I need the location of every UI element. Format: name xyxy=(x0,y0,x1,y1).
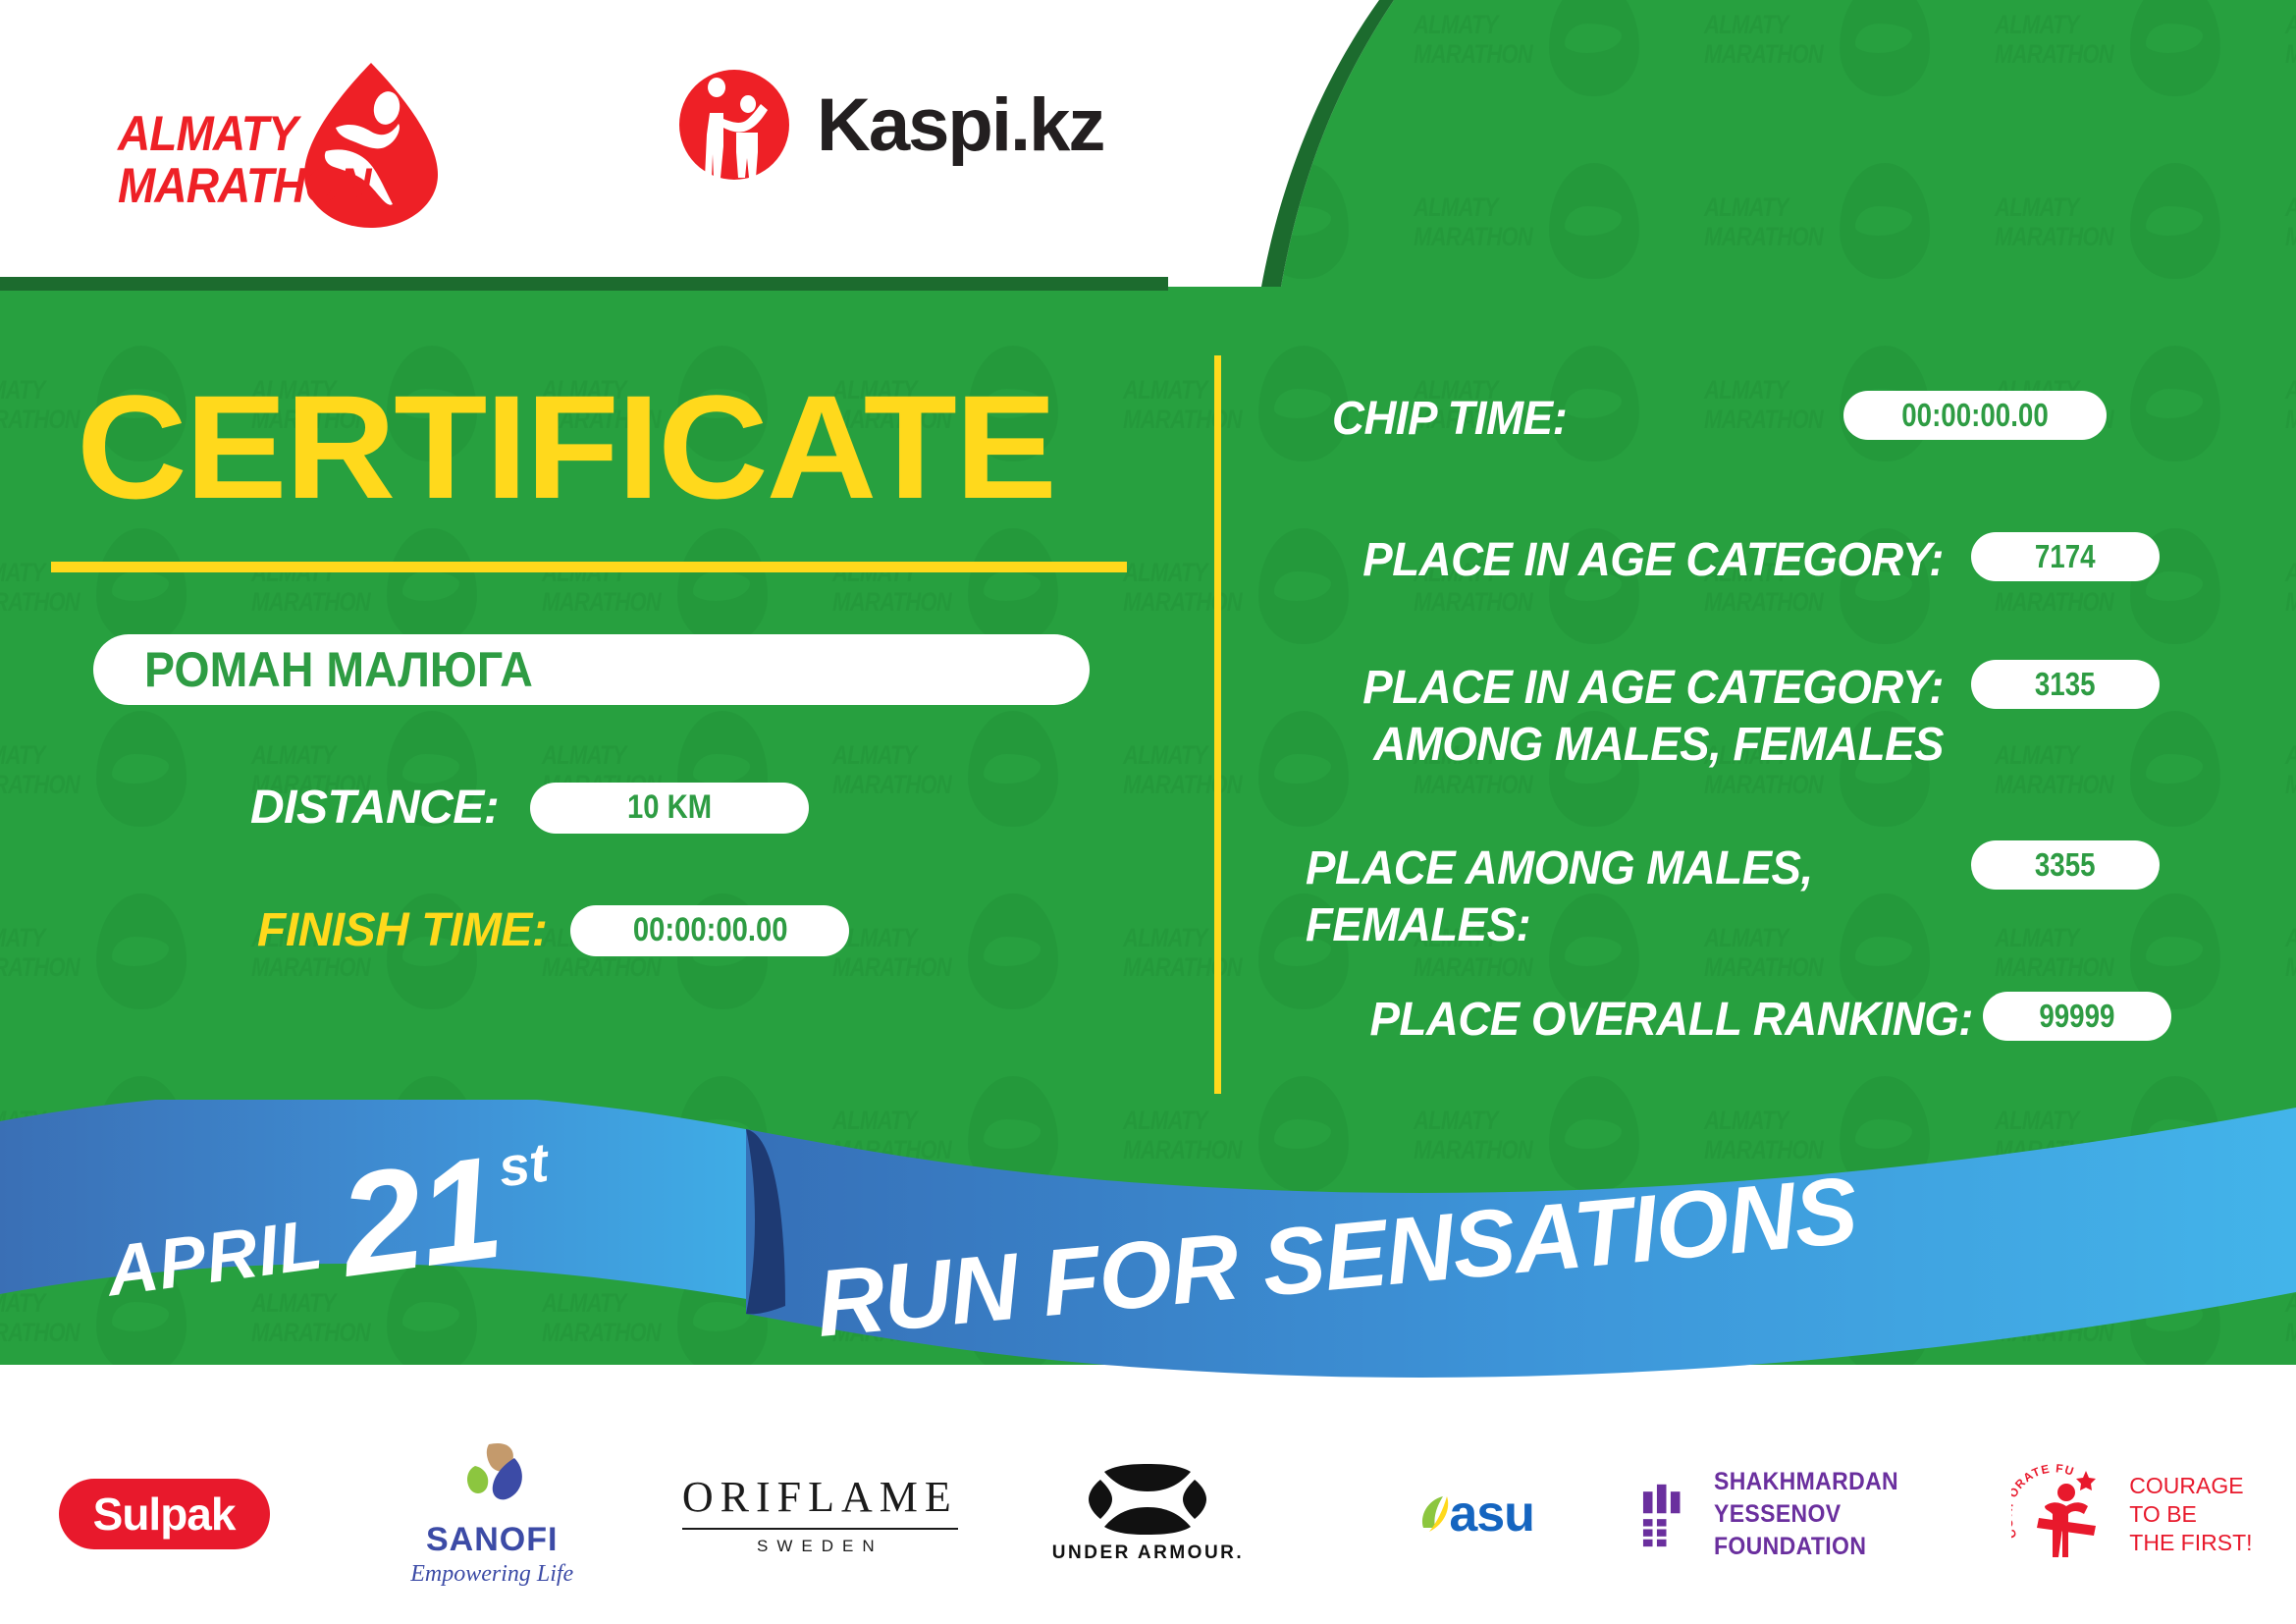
place-age-category-value-field: 7174 xyxy=(1971,532,2160,581)
watermark-text: ALMATYMARATHON xyxy=(1123,740,1244,799)
watermark-tile: ALMATYMARATHON xyxy=(2285,346,2296,493)
watermark-tile: ALMATYMARATHON xyxy=(832,711,1058,858)
place-age-category-gender-label-line2: AMONG MALES, FEMALES xyxy=(1338,717,1945,774)
place-overall-label: PLACE OVERALL RANKING: xyxy=(1339,992,1973,1049)
courage-line-2: TO BE xyxy=(2129,1500,2252,1529)
under-armour-mark-icon xyxy=(1085,1464,1210,1535)
yessenov-bars-icon xyxy=(1640,1470,1692,1558)
watermark-text: ALMATYMARATHON xyxy=(0,923,81,982)
chip-time-label: CHIP TIME: xyxy=(1332,391,1836,448)
oriflame-wordmark: ORIFLAME xyxy=(682,1472,958,1522)
yessenov-line-1: SHAKHMARDAN YESSENOV xyxy=(1714,1466,1948,1531)
watermark-tile: ALMATYMARATHON xyxy=(2285,163,2296,310)
watermark-tile: ALMATYMARATHON xyxy=(832,893,1058,1041)
courage-fund-wordmark: COURAGE TO BE THE FIRST! xyxy=(2129,1472,2252,1557)
sponsor-sanofi: SANOFI Empowering Life xyxy=(328,1440,656,1588)
watermark-tile: ALMATYMARATHON xyxy=(2285,528,2296,676)
watermark-drop-icon xyxy=(96,528,187,644)
watermark-text: ALMATYMARATHON xyxy=(2285,740,2296,799)
watermark-text: ALMATYMARATHON xyxy=(1123,375,1244,434)
place-among-gender-label-line2: FEMALES: xyxy=(1306,897,1912,954)
kaspi-people-circle-icon xyxy=(677,68,791,182)
place-age-category-value: 7174 xyxy=(2035,538,2096,575)
sanofi-logo: SANOFI Empowering Life xyxy=(410,1440,573,1588)
logo-line-2: MARATHON xyxy=(118,160,371,212)
chip-time-value-field: 00:00:00.00 xyxy=(1843,391,2107,440)
sponsor-courage-fund: CORPORATE FUND COURAGE TO BE THE FIRST! xyxy=(1968,1463,2296,1565)
watermark-text: ALMATYMARATHON xyxy=(1414,10,1534,69)
kaspi-logo: Kaspi.kz xyxy=(677,61,1103,189)
sponsor-asu: asu xyxy=(1312,1485,1640,1543)
watermark-drop-icon xyxy=(1549,163,1639,279)
place-age-category-row: PLACE IN AGE CATEGORY: 7174 xyxy=(1306,532,2179,589)
watermark-tile: ALMATYMARATHON xyxy=(1995,0,2220,128)
watermark-tile: ALMATYMARATHON xyxy=(1414,0,1639,128)
place-among-gender-value: 3355 xyxy=(2035,846,2096,884)
watermark-text: ALMATYMARATHON xyxy=(1995,192,2115,251)
yessenov-line-2: FOUNDATION xyxy=(1714,1531,1948,1563)
finish-time-value: 00:00:00.00 xyxy=(632,911,787,949)
finish-time-value-field: 00:00:00.00 xyxy=(570,905,849,956)
place-age-category-gender-label-block: PLACE IN AGE CATEGORY: AMONG MALES, FEMA… xyxy=(1306,660,1944,774)
event-month: APRIL xyxy=(102,1204,328,1312)
watermark-text: ALMATYMARATHON xyxy=(2285,192,2296,251)
sponsor-sulpak: Sulpak xyxy=(0,1479,328,1549)
watermark-tile: ALMATYMARATHON xyxy=(0,893,187,1041)
watermark-tile: ALMATYMARATHON xyxy=(1704,0,1930,128)
event-day: 21 xyxy=(334,1144,507,1291)
watermark-text: ALMATYMARATHON xyxy=(1704,192,1825,251)
courage-fund-logo: CORPORATE FUND COURAGE TO BE THE FIRST! xyxy=(2011,1463,2252,1565)
column-divider xyxy=(1214,355,1221,1094)
watermark-tile: ALMATYMARATHON xyxy=(2285,893,2296,1041)
courage-line-1: COURAGE xyxy=(2129,1472,2252,1500)
watermark-drop-icon xyxy=(96,893,187,1009)
watermark-drop-icon xyxy=(1840,163,1930,279)
chip-time-value: 00:00:00.00 xyxy=(1901,397,2049,434)
yessenov-foundation-logo: SHAKHMARDAN YESSENOV FOUNDATION xyxy=(1640,1466,1968,1563)
distance-label: DISTANCE: xyxy=(250,781,499,835)
kaspi-wordmark: Kaspi.kz xyxy=(817,82,1103,168)
place-overall-row: PLACE OVERALL RANKING: 99999 xyxy=(1306,992,2179,1049)
watermark-drop-icon xyxy=(968,711,1058,827)
watermark-text: ALMATYMARATHON xyxy=(0,375,81,434)
watermark-text: ALMATYMARATHON xyxy=(2285,10,2296,69)
page-title: CERTIFICATE xyxy=(77,373,1055,520)
place-age-category-gender-value: 3135 xyxy=(2035,666,2096,703)
header-divider xyxy=(0,277,1168,291)
watermark-drop-icon xyxy=(968,528,1058,644)
sanofi-mark-icon xyxy=(450,1440,534,1517)
place-age-category-gender-label-line1: PLACE IN AGE CATEGORY: xyxy=(1338,660,1945,717)
watermark-text: ALMATYMARATHON xyxy=(1704,10,1825,69)
athlete-name-value: РОМАН МАЛЮГА xyxy=(144,641,533,698)
watermark-tile: ALMATYMARATHON xyxy=(0,711,187,858)
asu-swoosh-icon xyxy=(1417,1492,1453,1536)
watermark-drop-icon xyxy=(387,528,477,644)
event-day-suffix: st xyxy=(495,1130,552,1200)
sponsor-bar: Sulpak SANOFI Empowering Life ORIFLAME S… xyxy=(0,1404,2296,1624)
place-among-gender-row: PLACE AMONG MALES, FEMALES: 3355 xyxy=(1306,840,2179,954)
watermark-tile: ALMATYMARATHON xyxy=(2285,0,2296,128)
oriflame-tagline: SWEDEN xyxy=(682,1528,958,1556)
sulpak-logo: Sulpak xyxy=(59,1479,270,1549)
watermark-drop-icon xyxy=(2130,0,2220,96)
courage-line-3: THE FIRST! xyxy=(2129,1529,2252,1557)
almaty-marathon-wordmark: ALMATY MARATHON xyxy=(118,108,371,212)
sponsor-under-armour: UNDER ARMOUR. xyxy=(984,1464,1311,1564)
place-overall-value: 99999 xyxy=(2039,998,2114,1035)
certificate-page: ALMATYMARATHONALMATYMARATHONALMATYMARATH… xyxy=(0,0,2296,1624)
place-among-gender-value-field: 3355 xyxy=(1971,840,2160,890)
sponsor-yessenov-foundation: SHAKHMARDAN YESSENOV FOUNDATION xyxy=(1640,1466,1968,1563)
watermark-text: ALMATYMARATHON xyxy=(832,923,953,982)
under-armour-logo: UNDER ARMOUR. xyxy=(1052,1464,1244,1564)
watermark-text: ALMATYMARATHON xyxy=(1414,192,1534,251)
distance-value: 10 KM xyxy=(627,788,712,827)
almaty-marathon-logo: ALMATY MARATHON xyxy=(118,61,442,208)
place-age-category-gender-value-field: 3135 xyxy=(1971,660,2160,709)
chip-time-row: CHIP TIME: 00:00:00.00 xyxy=(1306,391,2179,448)
watermark-text: ALMATYMARATHON xyxy=(2285,375,2296,434)
distance-row: DISTANCE: 10 KM xyxy=(250,781,809,835)
courage-fund-figure-icon: CORPORATE FUND xyxy=(2011,1463,2117,1565)
watermark-drop-icon xyxy=(1840,0,1930,96)
watermark-tile: ALMATYMARATHON xyxy=(1995,163,2220,310)
logo-line-1: ALMATY xyxy=(118,108,371,160)
watermark-text: ALMATYMARATHON xyxy=(0,740,81,799)
watermark-text: ALMATYMARATHON xyxy=(2285,558,2296,617)
watermark-drop-icon xyxy=(968,893,1058,1009)
sanofi-wordmark: SANOFI xyxy=(426,1521,558,1559)
title-underline xyxy=(51,562,1127,572)
place-overall-value-field: 99999 xyxy=(1983,992,2171,1041)
sulpak-wordmark: Sulpak xyxy=(93,1488,236,1541)
asu-logo: asu xyxy=(1417,1485,1534,1543)
watermark-text: ALMATYMARATHON xyxy=(1995,10,2115,69)
watermark-text: ALMATYMARATHON xyxy=(1123,558,1244,617)
yessenov-foundation-wordmark: SHAKHMARDAN YESSENOV FOUNDATION xyxy=(1714,1466,1948,1563)
watermark-tile: ALMATYMARATHON xyxy=(2285,711,2296,858)
watermark-tile: ALMATYMARATHON xyxy=(1414,163,1639,310)
asu-wordmark: asu xyxy=(1449,1485,1534,1543)
distance-value-field: 10 KM xyxy=(530,783,809,834)
sponsor-oriflame: ORIFLAME SWEDEN xyxy=(656,1472,984,1556)
watermark-drop-icon xyxy=(1549,0,1639,96)
place-age-category-label: PLACE IN AGE CATEGORY: xyxy=(1338,532,1945,589)
place-age-category-gender-row: PLACE IN AGE CATEGORY: AMONG MALES, FEMA… xyxy=(1306,660,2179,774)
finish-time-label: FINISH TIME: xyxy=(257,903,547,957)
watermark-text: ALMATYMARATHON xyxy=(2285,923,2296,982)
oriflame-logo: ORIFLAME SWEDEN xyxy=(682,1472,958,1556)
watermark-drop-icon xyxy=(2130,163,2220,279)
header-curve-shape xyxy=(1060,0,1394,287)
watermark-text: ALMATYMARATHON xyxy=(832,740,953,799)
sanofi-tagline: Empowering Life xyxy=(410,1561,573,1588)
watermark-text: ALMATYMARATHON xyxy=(1123,923,1244,982)
watermark-drop-icon xyxy=(96,711,187,827)
place-among-gender-label-block: PLACE AMONG MALES, FEMALES: xyxy=(1306,840,1944,954)
watermark-drop-icon xyxy=(677,528,768,644)
under-armour-wordmark: UNDER ARMOUR. xyxy=(1052,1543,1244,1564)
watermark-tile: ALMATYMARATHON xyxy=(1704,163,1930,310)
place-among-gender-label-line1: PLACE AMONG MALES, xyxy=(1306,840,1912,897)
finish-time-row: FINISH TIME: 00:00:00.00 xyxy=(257,903,849,957)
athlete-name-field: РОМАН МАЛЮГА xyxy=(93,634,1090,705)
